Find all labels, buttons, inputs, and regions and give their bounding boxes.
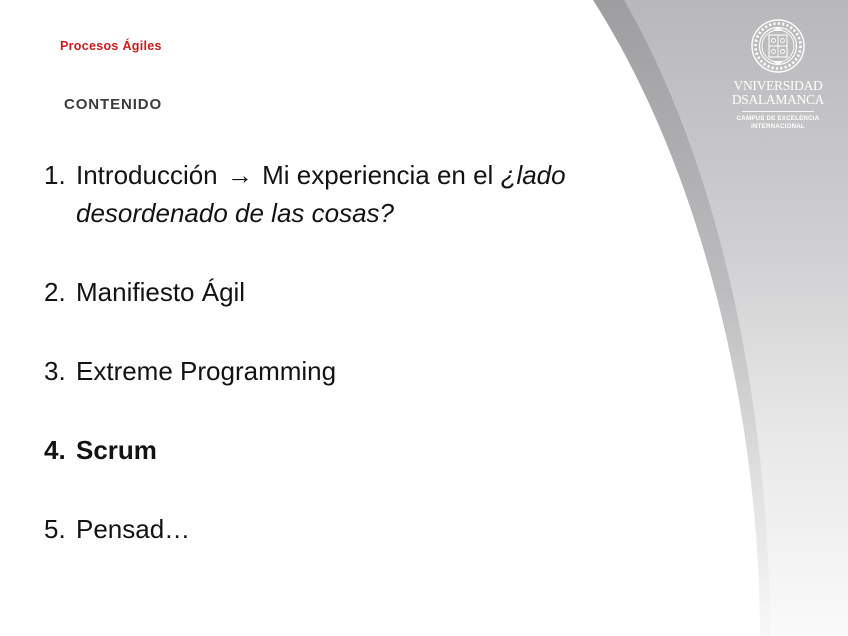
list-item-number: 4. [44, 431, 76, 469]
university-logo: VNIVERSIDAD DSALAMANCA CAMPUS DE EXCELEN… [722, 18, 834, 130]
list-item-text-after-arrow: Mi experiencia en el [255, 160, 501, 190]
page-title: CONTENIDO [64, 96, 162, 113]
list-item: 3. Extreme Programming [44, 352, 664, 390]
list-item-text: Pensad… [76, 510, 664, 548]
list-item: 4. Scrum [44, 431, 664, 469]
list-item-number: 2. [44, 273, 76, 311]
list-item-number: 5. [44, 510, 76, 548]
list-item-number: 1. [44, 156, 76, 194]
list-item: 2. Manifiesto Ágil [44, 273, 664, 311]
list-item-text: Introducción → Mi experiencia en el ¿lad… [76, 156, 664, 232]
slide-kicker: Procesos Ágiles [60, 39, 162, 53]
list-item-text: Extreme Programming [76, 352, 664, 390]
list-item-text: Scrum [76, 431, 664, 469]
universidad-salamanca-seal-icon [750, 18, 806, 74]
list-item-text-plain: Introducción [76, 160, 225, 190]
list-item-number: 3. [44, 352, 76, 390]
list-item-text: Manifiesto Ágil [76, 273, 664, 311]
logo-subtitle-line-1: CAMPUS DE EXCELENCIA [722, 115, 834, 123]
list-item: 5. Pensad… [44, 510, 664, 548]
list-item: 1. Introducción → Mi experiencia en el ¿… [44, 156, 664, 232]
content-list: 1. Introducción → Mi experiencia en el ¿… [44, 156, 664, 548]
logo-divider [742, 111, 814, 112]
logo-line-2: DSALAMANCA [722, 93, 834, 107]
right-arrow-icon: → [225, 160, 255, 190]
logo-line-1: VNIVERSIDAD [722, 79, 834, 93]
logo-subtitle-line-2: INTERNACIONAL [722, 123, 834, 131]
slide-canvas: VNIVERSIDAD DSALAMANCA CAMPUS DE EXCELEN… [0, 0, 848, 636]
